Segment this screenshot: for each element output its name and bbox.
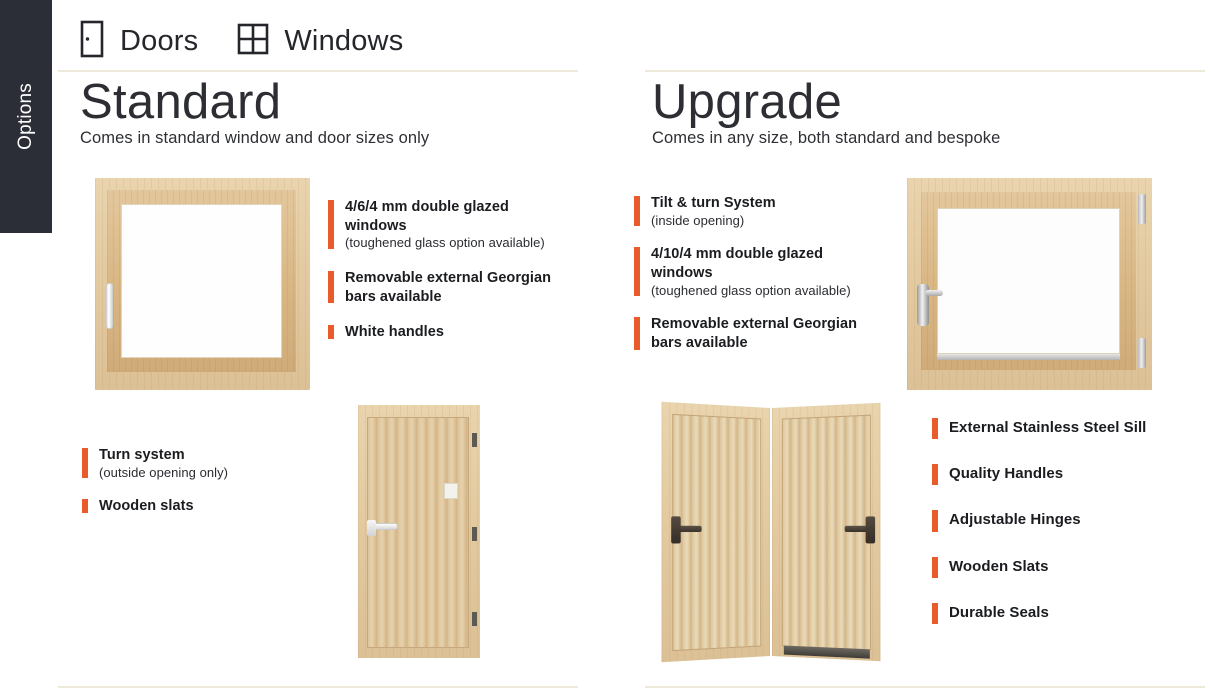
door-label-sticker xyxy=(444,483,458,499)
upgrade-doors-image xyxy=(660,408,880,670)
feature-title: Removable external Georgian bars availab… xyxy=(651,315,879,352)
door-slat-leaf xyxy=(367,417,469,648)
door-slat-leaf xyxy=(672,414,761,651)
feature-note: (inside opening) xyxy=(651,213,879,230)
nav-item-doors[interactable]: Doors xyxy=(78,20,198,63)
bronze-handle-icon xyxy=(676,526,701,532)
feature-title: External Stainless Steel Sill xyxy=(949,418,1202,437)
white-handle-icon xyxy=(106,283,113,329)
upgrade-subtitle: Comes in any size, both standard and bes… xyxy=(652,129,1208,148)
door-hinge xyxy=(472,612,477,626)
upgrade-door-left xyxy=(662,402,770,662)
feature-title: White handles xyxy=(345,323,558,342)
door-hinge xyxy=(472,527,477,541)
sidebar-tab-options[interactable]: Options xyxy=(0,0,52,233)
column-upgrade: Upgrade Comes in any size, both standard… xyxy=(652,78,1208,148)
feature-item: External Stainless Steel Sill xyxy=(932,418,1202,437)
door-icon xyxy=(78,20,106,63)
feature-title: Turn system xyxy=(99,446,332,465)
feature-title: Wooden Slats xyxy=(949,557,1202,576)
standard-window-feature-list: 4/6/4 mm double glazed windows (toughene… xyxy=(328,198,558,359)
standard-door-image xyxy=(358,405,480,658)
upgrade-title: Upgrade xyxy=(652,78,1208,127)
standard-door-feature-list: Turn system (outside opening only) Woode… xyxy=(82,446,332,532)
feature-title: Durable Seals xyxy=(949,603,1202,622)
feature-item: Durable Seals xyxy=(932,603,1202,622)
standard-subtitle: Comes in standard window and door sizes … xyxy=(80,129,590,148)
door-slat-leaf xyxy=(782,415,871,651)
feature-item: 4/6/4 mm double glazed windows (toughene… xyxy=(328,198,558,252)
header-divider-right xyxy=(645,70,1205,72)
feature-item: Wooden slats xyxy=(82,497,332,516)
header-nav: Doors Windows xyxy=(78,12,578,70)
window-hinge xyxy=(1138,338,1146,368)
standard-title: Standard xyxy=(80,78,590,127)
feature-title: Removable external Georgian bars availab… xyxy=(345,269,558,306)
feature-note: (toughened glass option available) xyxy=(651,283,879,300)
bronze-handle-icon xyxy=(845,526,870,532)
feature-item: Removable external Georgian bars availab… xyxy=(328,269,558,306)
window-glass-pane xyxy=(937,208,1120,354)
footer-divider-left xyxy=(58,686,578,688)
feature-title: Adjustable Hinges xyxy=(949,510,1202,529)
feature-item: White handles xyxy=(328,323,558,342)
feature-item: Quality Handles xyxy=(932,464,1202,483)
window-hinge xyxy=(1138,194,1146,224)
window-glass-pane xyxy=(121,204,282,358)
options-page: Options Doors Windows xyxy=(0,0,1214,700)
footer-divider-right xyxy=(645,686,1205,688)
door-hinge xyxy=(472,433,477,447)
feature-title: Wooden slats xyxy=(99,497,332,516)
feature-note: (toughened glass option available) xyxy=(345,235,558,252)
feature-title: 4/6/4 mm double glazed windows xyxy=(345,198,558,235)
column-standard: Standard Comes in standard window and do… xyxy=(80,78,590,148)
upgrade-window-feature-list: Tilt & turn System (inside opening) 4/10… xyxy=(634,194,879,369)
white-handle-icon xyxy=(372,523,398,530)
stainless-steel-sill xyxy=(937,354,1120,360)
feature-title: Quality Handles xyxy=(949,464,1202,483)
standard-window-image xyxy=(95,178,310,390)
upgrade-window-image xyxy=(907,178,1152,390)
feature-item: 4/10/4 mm double glazed windows (toughen… xyxy=(634,245,879,299)
feature-note: (outside opening only) xyxy=(99,465,332,482)
feature-item: Wooden Slats xyxy=(932,557,1202,576)
upgrade-door-right xyxy=(772,403,880,661)
feature-item: Turn system (outside opening only) xyxy=(82,446,332,481)
nav-label-windows: Windows xyxy=(284,25,403,58)
feature-item: Adjustable Hinges xyxy=(932,510,1202,529)
window-grid-icon xyxy=(236,22,270,61)
chrome-handle-icon xyxy=(917,284,929,326)
header-divider-left xyxy=(58,70,578,72)
upgrade-door-feature-list: External Stainless Steel Sill Quality Ha… xyxy=(932,418,1202,649)
feature-title: 4/10/4 mm double glazed windows xyxy=(651,245,879,282)
nav-label-doors: Doors xyxy=(120,25,198,58)
feature-item: Removable external Georgian bars availab… xyxy=(634,315,879,352)
sidebar-tab-label: Options xyxy=(15,83,37,150)
feature-title: Tilt & turn System xyxy=(651,194,879,213)
nav-item-windows[interactable]: Windows xyxy=(236,22,403,61)
feature-item: Tilt & turn System (inside opening) xyxy=(634,194,879,229)
